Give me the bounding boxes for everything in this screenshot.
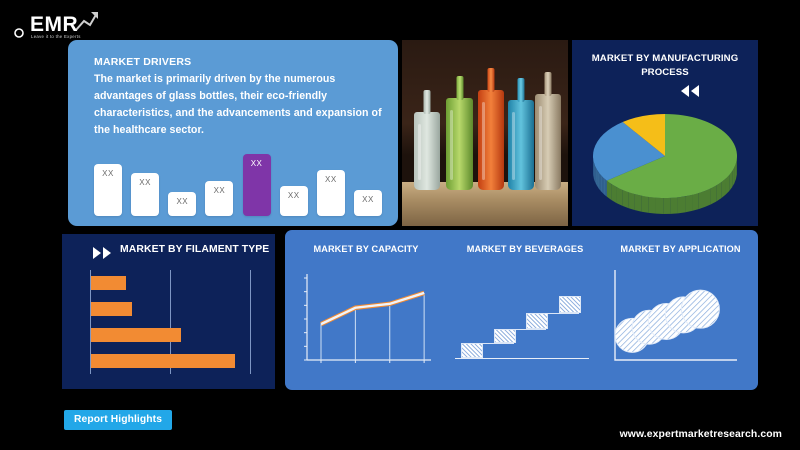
pie-slice-side <box>692 193 699 211</box>
filament-bar <box>91 302 132 316</box>
application-title: MARKET BY APPLICATION <box>603 244 758 254</box>
pie-slice-side <box>685 195 692 212</box>
pie-slice-side <box>595 166 596 184</box>
filament-title: MARKET BY FILAMENT TYPE <box>120 244 269 255</box>
drivers-bar: XX <box>243 154 271 216</box>
pie-slice-side <box>671 197 678 214</box>
pie-slice-side <box>602 177 603 194</box>
pie-slice-side <box>594 164 595 182</box>
market-by-capacity-chart: MARKET BY CAPACITY <box>285 230 447 390</box>
logo-tagline: Leave it to the Experts <box>31 34 81 39</box>
double-chevron-right-icon <box>90 246 114 260</box>
manufacturing-pie-chart <box>584 102 746 214</box>
beverages-bar <box>526 313 548 328</box>
pie-slice-side <box>711 185 716 204</box>
pie-slice-side <box>628 192 635 210</box>
pie-slice-side <box>649 197 656 214</box>
drivers-bar-label: XX <box>205 186 233 195</box>
bottle-blue <box>508 100 534 190</box>
drivers-bar: XX <box>317 170 345 216</box>
pie-slice-side <box>716 182 721 201</box>
beverages-plot-area <box>447 262 603 376</box>
infographic-canvas: EMR Leave it to the Experts MARKET DRIVE… <box>0 0 800 450</box>
capacity-title: MARKET BY CAPACITY <box>285 244 447 254</box>
beverages-connector <box>526 313 579 314</box>
drivers-bar-label: XX <box>131 178 159 187</box>
capacity-line <box>321 293 424 324</box>
application-bubble <box>681 290 719 328</box>
logo-wordmark: EMR <box>30 14 78 35</box>
double-chevron-left-icon <box>678 84 702 98</box>
filament-bar <box>91 354 235 368</box>
market-drivers-title: MARKET DRIVERS <box>94 56 191 68</box>
drivers-bar-label: XX <box>354 195 382 204</box>
market-by-manufacturing-process-panel: MARKET BY MANUFACTURING PROCESS <box>572 40 758 226</box>
website-url: www.expertmarketresearch.com <box>620 429 782 440</box>
logo-circle-icon <box>14 16 28 38</box>
capacity-line-svg <box>285 262 435 374</box>
pie-slice-side <box>597 169 598 187</box>
pie-slice-side <box>597 171 598 189</box>
pie-slice-side <box>622 190 628 208</box>
bottom-charts-panel: MARKET BY CAPACITY MARKET BY BEVERAGES M… <box>285 230 758 390</box>
beverages-title: MARKET BY BEVERAGES <box>447 244 603 254</box>
beverages-baseline <box>455 358 589 359</box>
pie-slice-side <box>663 198 670 214</box>
drivers-bar: XX <box>94 164 122 216</box>
filament-bar-chart <box>90 270 250 374</box>
pie-slice-side <box>604 178 606 195</box>
beverages-bar <box>494 329 516 343</box>
bottle-amber <box>535 94 561 190</box>
beverages-bar <box>559 296 581 313</box>
pie-slice-side <box>605 179 607 196</box>
market-by-application-chart: MARKET BY APPLICATION <box>603 230 758 390</box>
drivers-bar: XX <box>131 173 159 216</box>
market-by-beverages-chart: MARKET BY BEVERAGES <box>447 230 603 390</box>
bottle-green <box>446 98 473 190</box>
pie-slice-side <box>617 187 623 206</box>
beverages-connector <box>461 343 514 344</box>
application-plot-area <box>603 262 758 376</box>
drivers-bar-label: XX <box>94 169 122 178</box>
drivers-bar: XX <box>168 192 196 216</box>
filament-bar <box>91 328 181 342</box>
pie-slice-side <box>611 184 616 203</box>
pie-slice-side <box>642 196 649 213</box>
pie-slice-side <box>601 175 602 192</box>
pie-slice-side <box>598 172 599 190</box>
beverages-bar <box>461 343 483 358</box>
market-drivers-panel: MARKET DRIVERS The market is primarily d… <box>68 40 398 226</box>
pie-slice-side <box>596 167 597 185</box>
drivers-bar: XX <box>280 186 308 216</box>
pie-slice-side <box>678 196 685 213</box>
market-drivers-body: The market is primarily driven by the nu… <box>94 71 382 139</box>
report-highlights-button[interactable]: Report Highlights <box>64 410 172 430</box>
market-drivers-bar-chart: XXXXXXXXXXXXXXXX <box>94 144 382 216</box>
beverages-connector <box>494 329 547 330</box>
glass-bottles-photo <box>402 40 568 226</box>
report-highlights-label: Report Highlights <box>64 414 172 425</box>
manufacturing-title: MARKET BY MANUFACTURING PROCESS <box>582 52 748 80</box>
drivers-bar-label: XX <box>168 197 196 206</box>
drivers-bar-label: XX <box>280 191 308 200</box>
pie-slice-side <box>656 198 663 214</box>
bottle-clear <box>414 112 440 190</box>
pie-slice-side <box>635 194 642 212</box>
market-by-filament-type-panel: MARKET BY FILAMENT TYPE <box>62 234 275 389</box>
emr-logo: EMR Leave it to the Experts <box>14 10 134 44</box>
drivers-bar: XX <box>354 190 382 216</box>
application-bubble-svg <box>603 262 751 374</box>
pie-slice-side <box>600 174 601 191</box>
pie-slice-side <box>699 191 705 209</box>
capacity-plot-area <box>285 262 447 376</box>
filament-bar <box>91 276 126 290</box>
pie-slice-side <box>607 181 612 200</box>
drivers-bar-label: XX <box>243 159 271 168</box>
drivers-bar: XX <box>205 181 233 216</box>
drivers-bar-label: XX <box>317 175 345 184</box>
pie-slice-side <box>705 188 711 207</box>
bottle-orange <box>478 90 504 190</box>
